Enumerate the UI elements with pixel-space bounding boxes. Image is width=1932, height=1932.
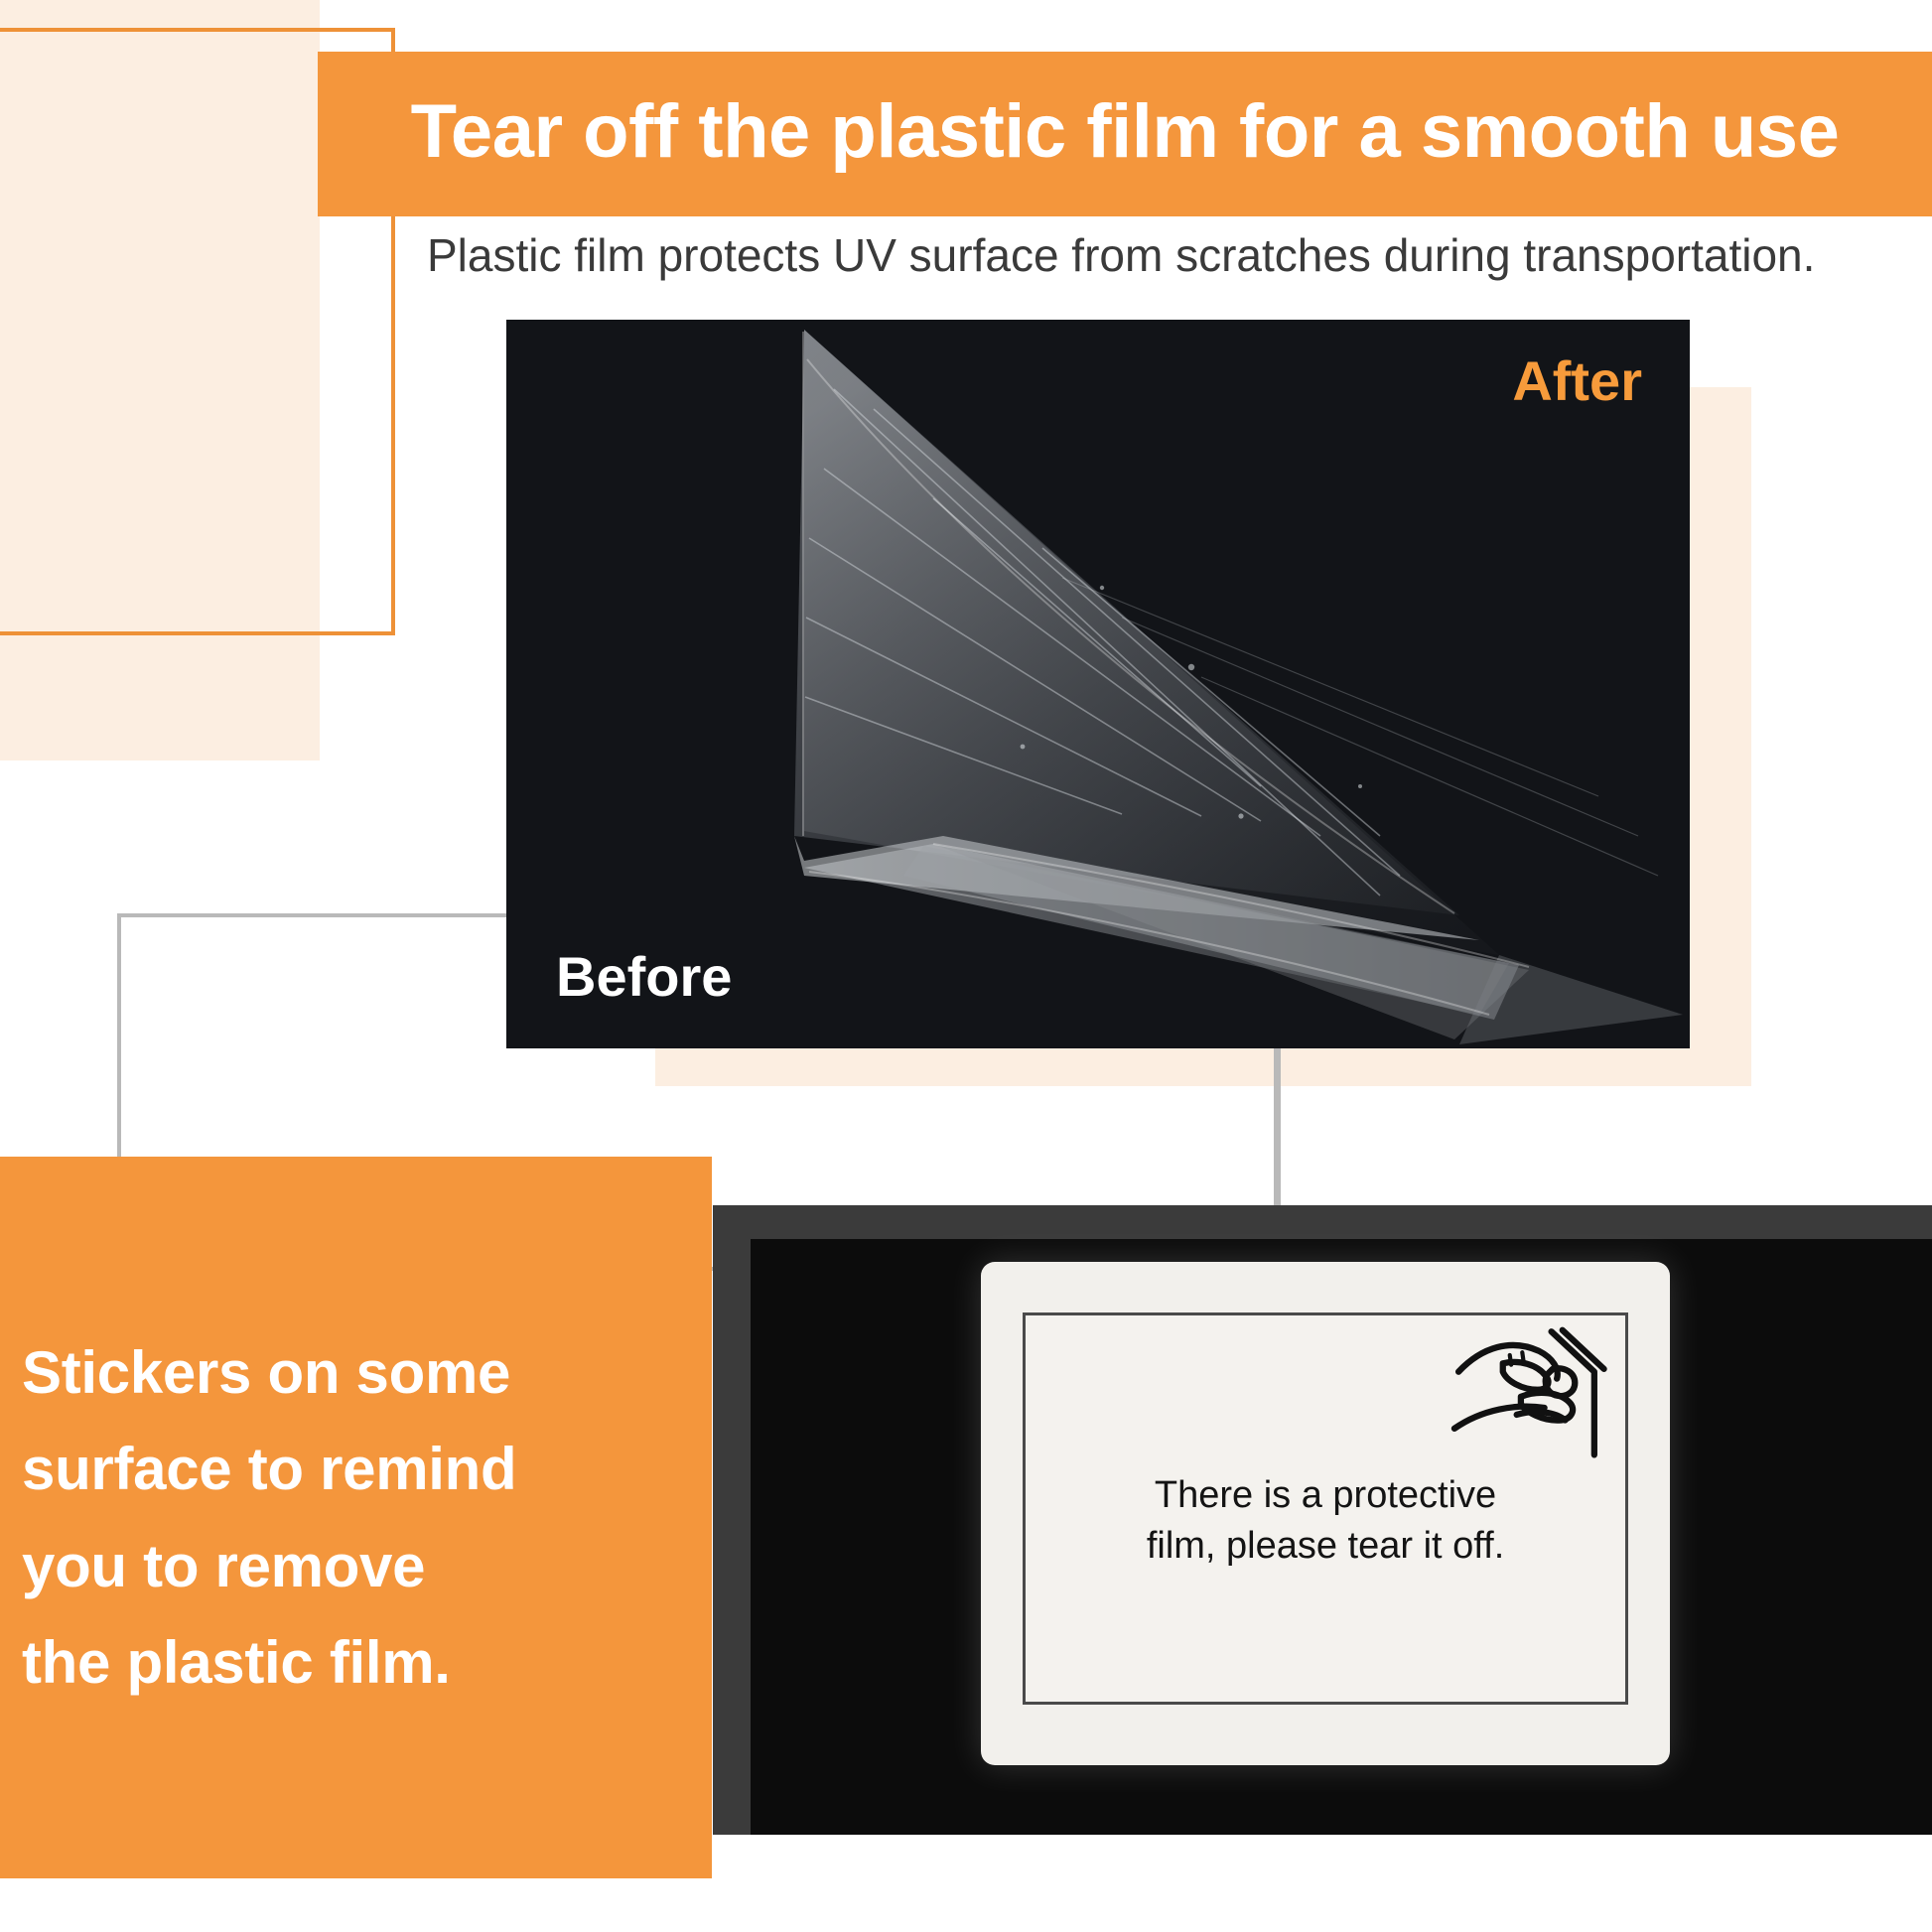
- header-banner: Tear off the plastic film for a smooth u…: [318, 52, 1932, 216]
- sticker-photo: There is a protective film, please tear …: [713, 1205, 1932, 1835]
- callout-line: surface to remind: [22, 1421, 516, 1517]
- callout-line: the plastic film.: [22, 1614, 516, 1711]
- warning-sticker: There is a protective film, please tear …: [981, 1262, 1670, 1765]
- infographic-canvas: Tear off the plastic film for a smooth u…: [0, 0, 1932, 1932]
- hand-peeling-film-icon: [1434, 1304, 1613, 1481]
- comparison-photo: After Before: [506, 320, 1690, 1048]
- plastic-film-illustration: [506, 320, 1690, 1048]
- sticker-text-line: film, please tear it off.: [1085, 1521, 1566, 1572]
- callout-text: Stickers on some surface to remind you t…: [0, 1324, 550, 1711]
- gray-connector-line: [1274, 1047, 1279, 1211]
- sticker-inner-frame: There is a protective film, please tear …: [1023, 1312, 1629, 1706]
- callout-line: Stickers on some: [22, 1324, 516, 1421]
- header-subtitle: Plastic film protects UV surface from sc…: [427, 230, 1916, 281]
- sticker-text-line: There is a protective: [1085, 1470, 1566, 1521]
- sticker-text: There is a protective film, please tear …: [1085, 1470, 1566, 1573]
- label-before: Before: [556, 949, 732, 1005]
- page-title: Tear off the plastic film for a smooth u…: [411, 94, 1840, 174]
- label-after: After: [1512, 353, 1642, 409]
- callout-line: you to remove: [22, 1518, 516, 1614]
- callout-orange-block: Stickers on some surface to remind you t…: [0, 1157, 712, 1878]
